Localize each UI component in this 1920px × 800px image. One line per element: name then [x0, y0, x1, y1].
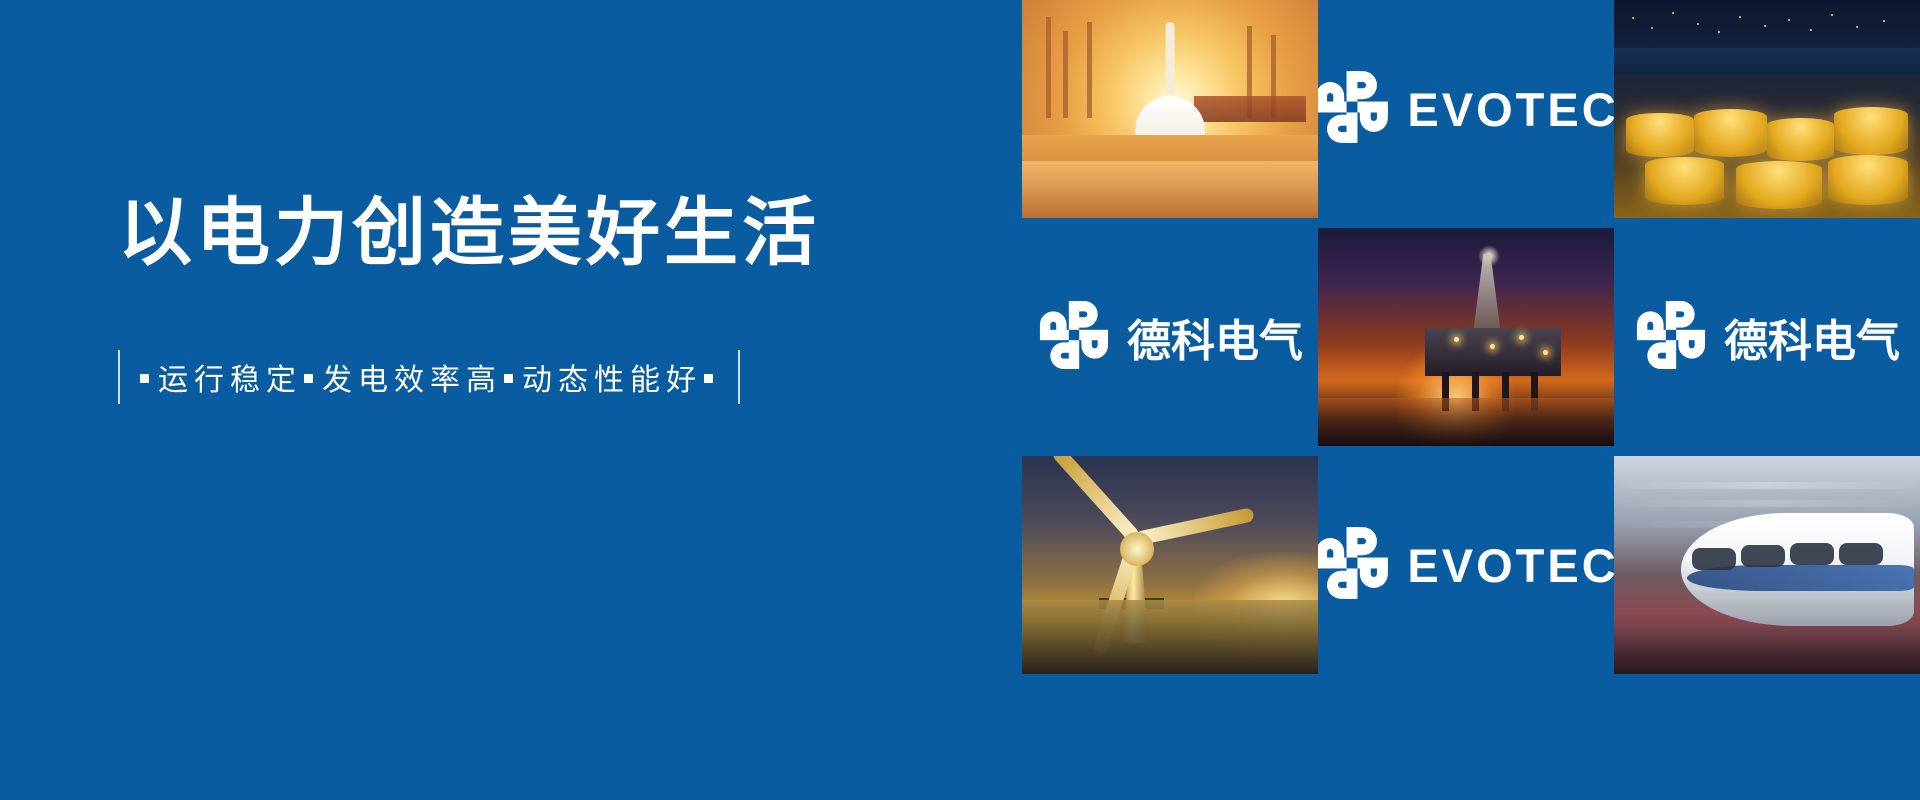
- grid-gap: [1022, 218, 1318, 228]
- tile-deke-cjk-logo-left[interactable]: 德科电气: [1022, 228, 1318, 446]
- tile-airport-cargo-port-airplane-sunset: [1022, 0, 1318, 218]
- subtitle-item-2: 发电效率高: [322, 355, 502, 399]
- tile-offshore-oil-rig-dusk: [1318, 228, 1614, 446]
- subtitle-rule-left: [118, 350, 120, 404]
- evotec-pinwheel-logo-icon: [1318, 524, 1391, 607]
- evotec-pinwheel-logo-icon: [1318, 68, 1391, 151]
- hero-copy: 以电力创造美好生活 运行稳定 发电效率高 动态性能好: [118, 196, 898, 404]
- tile-evotec-latin-logo-bottom[interactable]: EVOTEC: [1318, 456, 1614, 674]
- subtitle-item-3: 动态性能好: [522, 355, 702, 399]
- grid-gap: [1022, 446, 1318, 456]
- grid-gap: [1318, 218, 1614, 228]
- grid-gap: [1318, 446, 1614, 456]
- evotec-wordmark: EVOTEC: [1407, 538, 1614, 593]
- subtitle-items: 运行稳定 发电效率高 动态性能好: [138, 355, 722, 399]
- grid-gap: [1614, 218, 1920, 228]
- tile-wind-turbine-dusk: [1022, 456, 1318, 674]
- square-bullet-icon: [140, 374, 149, 383]
- square-bullet-icon: [304, 374, 313, 383]
- tile-high-speed-train: [1614, 456, 1920, 674]
- square-bullet-icon: [504, 374, 513, 383]
- deke-wordmark: 德科电气: [1127, 305, 1303, 369]
- tile-oil-tank-farm-night: [1614, 0, 1920, 218]
- subtitle-item-1: 运行稳定: [158, 355, 302, 399]
- evotec-pinwheel-logo-icon: [1634, 298, 1708, 377]
- square-bullet-icon: [704, 374, 713, 383]
- deke-wordmark: 德科电气: [1724, 305, 1900, 369]
- grid-gap: [1614, 446, 1920, 456]
- brand-tile-grid: EVOTEC: [1022, 0, 1920, 800]
- subtitle-rule-right: [738, 350, 740, 404]
- page-title: 以电力创造美好生活: [118, 196, 898, 270]
- tile-deke-cjk-logo-right[interactable]: 德科电气: [1614, 228, 1920, 446]
- hero-subtitle: 运行稳定 发电效率高 动态性能好: [118, 350, 898, 404]
- evotec-pinwheel-logo-icon: [1037, 298, 1111, 377]
- tile-evotec-latin-logo[interactable]: EVOTEC: [1318, 0, 1614, 218]
- evotec-wordmark: EVOTEC: [1407, 82, 1614, 137]
